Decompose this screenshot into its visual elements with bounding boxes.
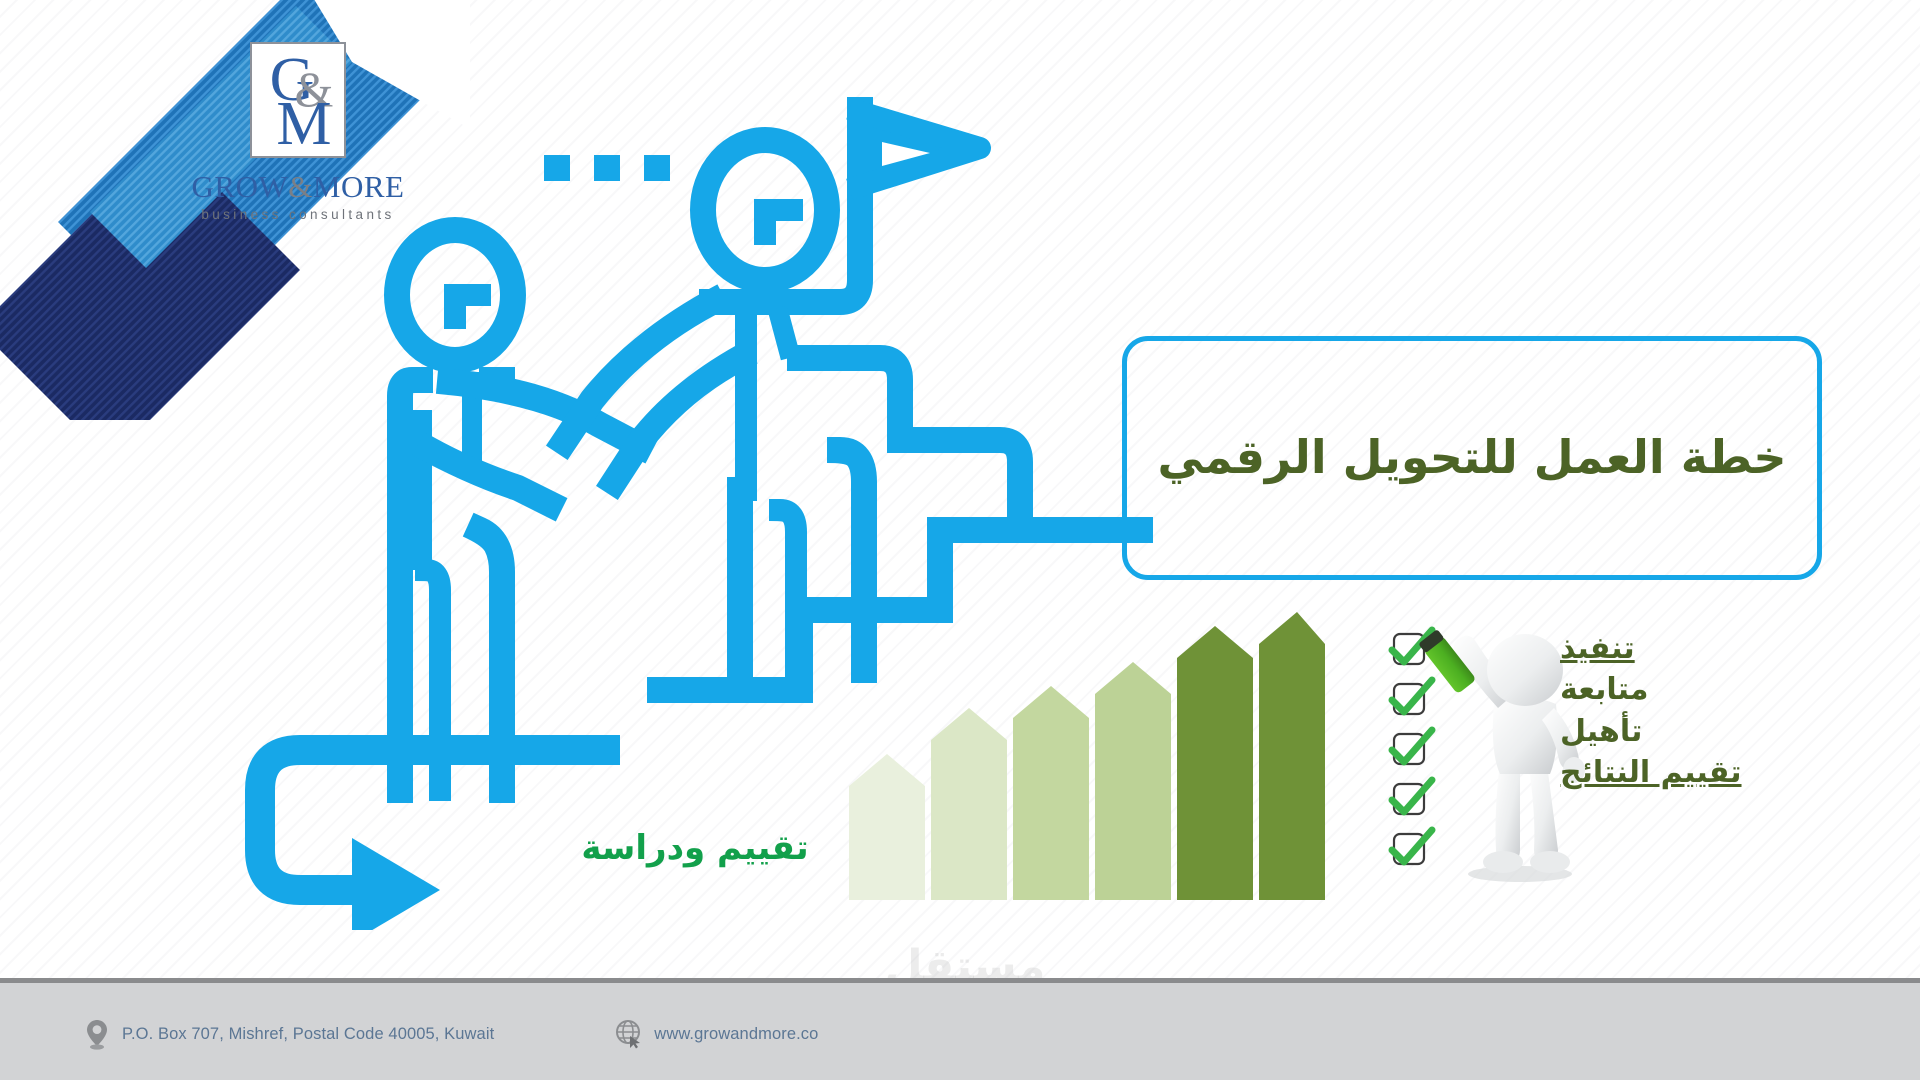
flow-arrow-head: [352, 838, 440, 930]
ellipsis-dots: [544, 155, 670, 181]
bar-chart-svg: [845, 600, 1325, 900]
footer-bar: P.O. Box 707, Mishref, Postal Code 40005…: [0, 978, 1920, 1080]
checkbox-item[interactable]: [1392, 680, 1432, 714]
location-pin-icon: [82, 1017, 112, 1051]
bar-5: [1177, 626, 1253, 900]
step-item-2: متابعة: [1560, 669, 1900, 710]
process-steps-list: تنفيذ متابعة تأهيل تقييم النتائج: [1560, 628, 1900, 794]
bar-1: [849, 754, 925, 900]
bar-2: [931, 708, 1007, 900]
checkbox-item[interactable]: [1392, 730, 1432, 764]
checkbox-item[interactable]: [1392, 780, 1432, 814]
step-item-4: تقييم النتائج: [1560, 752, 1900, 793]
title-box: خطة العمل للتحويل الرقمي: [1122, 336, 1822, 580]
bar-6: [1259, 612, 1325, 900]
slide-canvas: G & M GROW&MORE business consultants: [0, 0, 1920, 1080]
globe-icon: [614, 1017, 644, 1051]
step-item-3: تأهيل: [1560, 711, 1900, 752]
footer-website-group[interactable]: www.growandmore.co: [614, 1017, 818, 1051]
page-title: خطة العمل للتحويل الرقمي: [1157, 428, 1786, 488]
footer-address-group: P.O. Box 707, Mishref, Postal Code 40005…: [82, 1017, 494, 1051]
checkbox-item[interactable]: [1392, 830, 1432, 864]
bar-3: [1013, 686, 1089, 900]
bar-4: [1095, 662, 1171, 900]
footer-website: www.growandmore.co: [654, 1025, 818, 1044]
footer-address: P.O. Box 707, Mishref, Postal Code 40005…: [122, 1025, 494, 1044]
goal-flag: [860, 112, 980, 186]
step-item-1: تنفيذ: [1560, 628, 1900, 669]
checkbox-list: [1392, 630, 1432, 864]
growth-bar-chart: [845, 600, 1325, 900]
evaluation-study-label: تقييم ودراسة: [570, 828, 820, 868]
